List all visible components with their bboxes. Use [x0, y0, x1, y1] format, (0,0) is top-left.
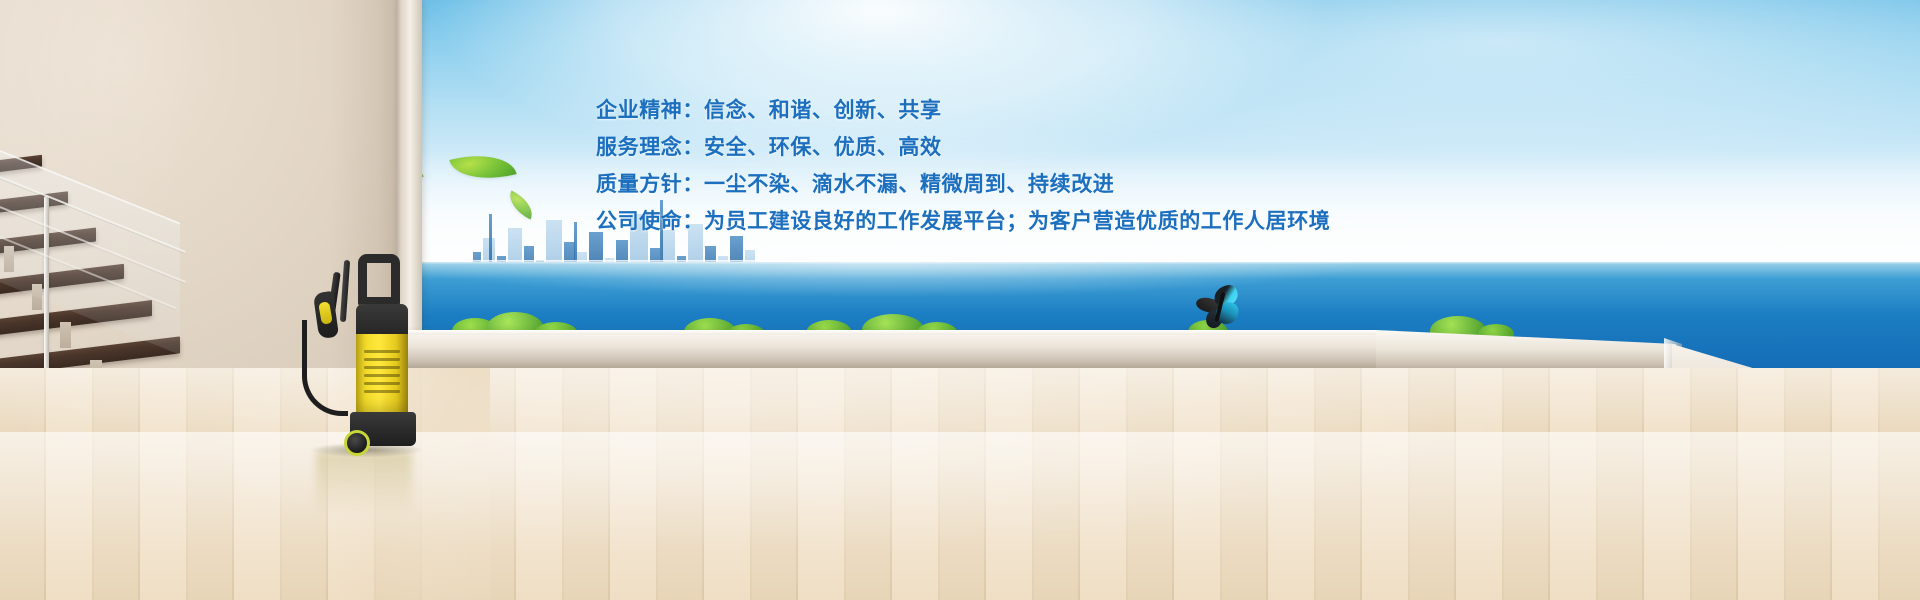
values-line-3: 质量方针：一尘不染、滴水不漏、精微周到、持续改进 — [596, 166, 1336, 203]
washer-top-cover — [356, 304, 408, 334]
values-line-4: 公司使命：为员工建设良好的工作发展平台；为客户营造优质的工作人居环境 — [596, 203, 1336, 240]
butterfly-icon — [1196, 286, 1248, 330]
banner-hero: 企业精神：信念、和谐、创新、共享 服务理念：安全、环保、优质、高效 质量方针：一… — [0, 0, 1920, 600]
pressure-washer — [306, 254, 424, 460]
corporate-values-text: 企业精神：信念、和谐、创新、共享 服务理念：安全、环保、优质、高效 质量方针：一… — [596, 92, 1336, 240]
values-line-1: 企业精神：信念、和谐、创新、共享 — [596, 92, 1336, 129]
washer-handle — [358, 254, 400, 306]
window-sill — [396, 330, 1376, 368]
washer-wheel — [344, 430, 370, 456]
washer-lance-b — [340, 260, 350, 322]
floor-highlight — [0, 368, 1920, 600]
values-line-2: 服务理念：安全、环保、优质、高效 — [596, 129, 1336, 166]
window-sill-edge — [396, 330, 1376, 335]
machine-reflection — [316, 452, 412, 514]
